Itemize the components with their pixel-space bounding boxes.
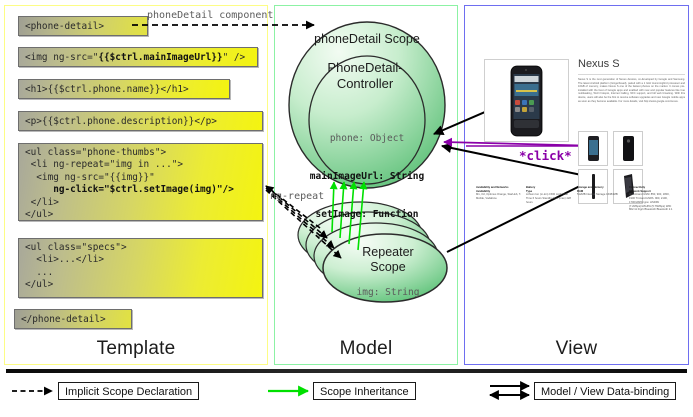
product-description: Nexus S is the next generation of Nexus … xyxy=(578,78,685,126)
label-click: *click* xyxy=(519,148,572,163)
phone-thumb-back-icon xyxy=(614,132,642,165)
spec-column-battery: Battery Type Lithium Ion (Li-Ion) 1500 m… xyxy=(526,186,573,205)
main-phone-image[interactable] xyxy=(484,59,569,142)
spec-column-availability: Availability and Networks Availability M… xyxy=(476,186,523,201)
legend-data-binding-arrows xyxy=(490,386,529,395)
thumbnail-1[interactable] xyxy=(578,131,608,166)
separator-bar xyxy=(6,369,687,373)
spec-lines: Quad-band GSM: 850, 900, 1800, 1900 Tri-… xyxy=(629,193,672,211)
spec-lines: Lithium Ion (Li-Ion) 1500 mAhr Talk Time… xyxy=(526,193,571,203)
spec-column-connectivity: Connectivity Network Support Quad-band G… xyxy=(629,186,676,212)
phone-detail-scope-ellipse xyxy=(289,22,445,188)
product-title: Nexus S xyxy=(578,58,620,70)
spec-column-storage: Storage and Memory RAM 512MB Internal St… xyxy=(577,186,624,197)
label-ng-repeat: ng-repeat xyxy=(270,191,324,202)
legend-item-scope-inheritance: Scope Inheritance xyxy=(313,382,416,400)
spec-lines: 512MB Internal Storage 16384MB xyxy=(577,193,618,196)
repeater-scope-front xyxy=(323,234,447,302)
legend-item-implicit-scope-declaration: Implicit Scope Declaration xyxy=(58,382,199,400)
title-divider xyxy=(578,74,685,75)
spec-lines: M1, O2, Optimus Orange, StarHub, T-Mobil… xyxy=(476,193,521,200)
nexus-s-phone-illustration xyxy=(485,60,568,141)
label-phone-detail-component: phoneDetail component xyxy=(147,10,273,21)
legend-item-model-view-data-binding: Model / View Data-binding xyxy=(534,382,676,400)
thumbnail-2[interactable] xyxy=(613,131,643,166)
diagram-canvas: Template Model View <phone-detail> <img … xyxy=(0,0,693,417)
phone-thumb-front-icon xyxy=(579,132,607,165)
